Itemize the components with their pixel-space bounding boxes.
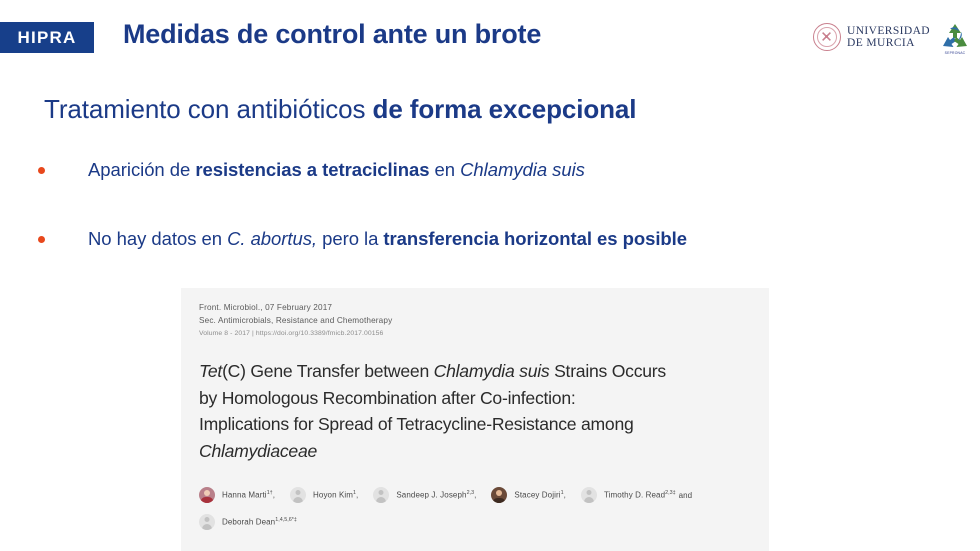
paper-section-line: Sec. Antimicrobials, Resistance and Chem… (199, 315, 747, 328)
author-row-1: Hanna Marti1†, Hoyon Kim1, Sandeep J. Jo… (199, 484, 747, 506)
author-separator: , (356, 491, 358, 500)
bullet-dot-icon (38, 236, 45, 243)
paper-title-line1-tail: Strains Occurs (549, 361, 666, 381)
paper-author-list: Hanna Marti1†, Hoyon Kim1, Sandeep J. Jo… (199, 484, 747, 533)
author-name: Timothy D. Read2,3‡ (604, 490, 676, 500)
author-row-trailing-word: and (679, 491, 692, 500)
author-chip: Sandeep J. Joseph2,3, (373, 487, 476, 503)
bullet-2-bold1: transferencia horizontal es posible (383, 228, 687, 249)
author-separator: , (273, 491, 275, 500)
author-name: Hanna Marti1†, (222, 490, 275, 500)
university-seal-icon (813, 23, 841, 51)
bullet-1-part1: Aparición de (88, 159, 195, 180)
paper-title-line-1: Tet(C) Gene Transfer between Chlamydia s… (199, 358, 747, 385)
author-chip: Hoyon Kim1, (290, 487, 358, 503)
paper-journal-line: Front. Microbiol., 07 February 2017 (199, 302, 747, 315)
hipra-logo: HIPRA (0, 22, 94, 53)
avatar (581, 487, 597, 503)
author-chip: Timothy D. Read2,3‡ and (581, 487, 692, 503)
bullet-item-1: Aparición de resistencias a tetraciclina… (38, 158, 585, 182)
avatar (199, 487, 215, 503)
author-chip: Stacey Dojiri1, (491, 487, 566, 503)
author-name: Hoyon Kim1, (313, 490, 358, 500)
bullet-1-part2: en (429, 159, 460, 180)
author-name-text: Deborah Dean (222, 518, 275, 527)
paper-title-line-2: by Homologous Recombination after Co-inf… (199, 385, 747, 412)
paper-title-line-4: Chlamydiaceae (199, 438, 747, 465)
university-wordmark-line1: UNIVERSIDAD (847, 25, 930, 38)
university-wordmark-line2: DE MURCIA (847, 37, 930, 50)
avatar (290, 487, 306, 503)
author-name-text: Hanna Marti (222, 491, 267, 500)
hipra-logo-text: HIPRA (18, 28, 77, 48)
university-wordmark: UNIVERSIDAD DE MURCIA (847, 25, 930, 50)
eco-caption: SEPRONAC (938, 51, 972, 55)
subtitle-plain: Tratamiento con antibióticos (44, 94, 373, 124)
author-name-text: Stacey Dojiri (514, 491, 560, 500)
bullet-2-italic1: C. abortus, (227, 228, 317, 249)
bullet-text-2: No hay datos en C. abortus, pero la tran… (88, 227, 687, 251)
recycling-leaf-icon: SEPRONAC (938, 20, 972, 54)
author-affiliation-sup: 2,3 (467, 490, 475, 496)
bullet-1-bold1: resistencias a tetraciclinas (195, 159, 429, 180)
slide-subtitle: Tratamiento con antibióticos de forma ex… (44, 94, 636, 125)
page-title: Medidas de control ante un brote (123, 19, 541, 50)
bullet-dot-icon (38, 167, 45, 174)
subtitle-bold: de forma excepcional (373, 94, 637, 124)
paper-title-family: Chlamydiaceae (199, 441, 317, 461)
bullet-2-part1: No hay datos en (88, 228, 227, 249)
slide-header: HIPRA Medidas de control ante un brote U… (0, 0, 980, 72)
avatar (491, 487, 507, 503)
paper-title-line-3: Implications for Spread of Tetracycline-… (199, 411, 747, 438)
author-name-text: Timothy D. Read (604, 491, 665, 500)
bullet-item-2: No hay datos en C. abortus, pero la tran… (38, 227, 687, 251)
paper-title: Tet(C) Gene Transfer between Chlamydia s… (199, 358, 747, 464)
author-name: Stacey Dojiri1, (514, 490, 566, 500)
avatar (199, 514, 215, 530)
author-row-2: Deborah Dean1,4,5,6*‡ (199, 511, 747, 533)
author-affiliation-sup: 2,3‡ (665, 490, 676, 496)
university-logo-group: UNIVERSIDAD DE MURCIA SEPRONAC (813, 16, 972, 58)
paper-screenshot-card: Front. Microbiol., 07 February 2017 Sec.… (181, 288, 769, 551)
author-affiliation-sup: 1,4,5,6*‡ (275, 517, 297, 523)
paper-title-species: Chlamydia suis (434, 361, 550, 381)
author-name-text: Hoyon Kim (313, 491, 353, 500)
author-name: Sandeep J. Joseph2,3, (396, 490, 476, 500)
avatar (373, 487, 389, 503)
author-name: Deborah Dean1,4,5,6*‡ (222, 517, 297, 527)
bullet-text-1: Aparición de resistencias a tetraciclina… (88, 158, 585, 182)
bullet-2-part2: pero la (317, 228, 383, 249)
bullet-1-italic1: Chlamydia suis (460, 159, 585, 180)
paper-title-tet: Tet (199, 361, 222, 381)
author-name-text: Sandeep J. Joseph (396, 491, 466, 500)
author-chip: Deborah Dean1,4,5,6*‡ (199, 514, 297, 530)
author-chip: Hanna Marti1†, (199, 487, 275, 503)
paper-title-line1-rest: (C) Gene Transfer between (222, 361, 434, 381)
author-separator: , (474, 491, 476, 500)
author-separator: , (564, 491, 566, 500)
paper-volume-doi-line: Volume 8 - 2017 | https://doi.org/10.338… (199, 328, 747, 340)
